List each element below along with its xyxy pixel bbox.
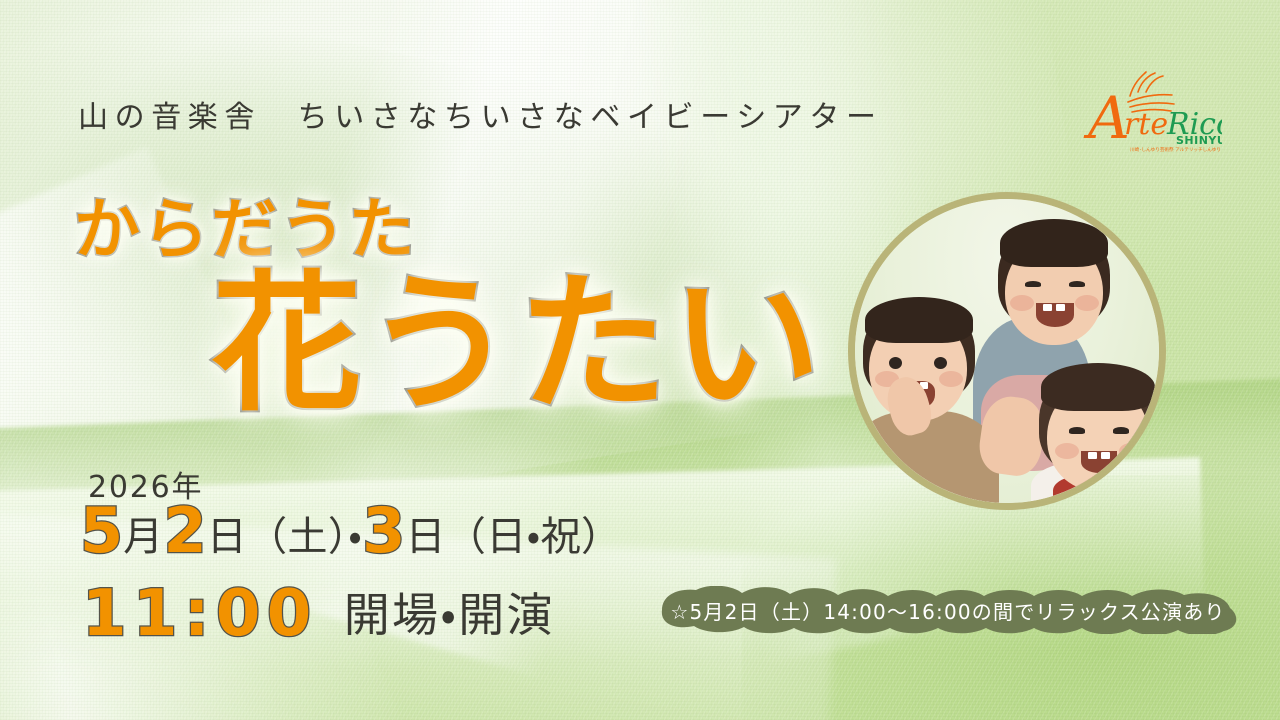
logo-tagline: 川崎･しんゆり芸術祭 アルテリッチしんゆり bbox=[1130, 146, 1221, 153]
logo-subtext-shinyuri: SHINYURI bbox=[1176, 134, 1222, 147]
logo-wheat-icon bbox=[1128, 72, 1174, 112]
relax-banner-text: ☆5月2日（土）14:00～16:00の間でリラックス公演あり bbox=[648, 586, 1248, 634]
date-day1-suffix: 日（土）・ bbox=[207, 514, 363, 560]
performance-time: 11:00開場・開演 bbox=[82, 582, 555, 646]
date-day1-number: 2 bbox=[164, 494, 207, 567]
logo-letter-a: A bbox=[1083, 84, 1130, 152]
date-month-number: 5 bbox=[80, 494, 123, 567]
baby-photo-frame bbox=[848, 192, 1166, 510]
relax-performance-banner: ☆5月2日（土）14:00～16:00の間でリラックス公演あり bbox=[648, 586, 1248, 634]
time-clock: 11:00 bbox=[82, 577, 318, 651]
baby-photo bbox=[855, 199, 1159, 503]
date-day2-suffix: 日（日・祝） bbox=[405, 514, 621, 560]
date-month-kanji: 月 bbox=[123, 514, 163, 560]
artericca-logo[interactable]: A rte Ricca SHINYURI 川崎･しんゆり芸術祭 アルテリッチしん… bbox=[1072, 62, 1222, 154]
time-label: 開場・開演 bbox=[344, 588, 555, 642]
poster-root: 山の音楽舎 ちいさなちいさなベイビーシアター A rte Ricca SHINY… bbox=[0, 0, 1280, 720]
performance-date: 5月2日（土）・3日（日・祝） bbox=[80, 500, 621, 562]
date-day2-number: 3 bbox=[362, 494, 405, 567]
header-series-title: 山の音楽舎 ちいさなちいさなベイビーシアター bbox=[78, 92, 883, 136]
logo-text-rte: rte bbox=[1124, 107, 1168, 142]
main-title-hanautai: 花うたい bbox=[212, 270, 824, 420]
